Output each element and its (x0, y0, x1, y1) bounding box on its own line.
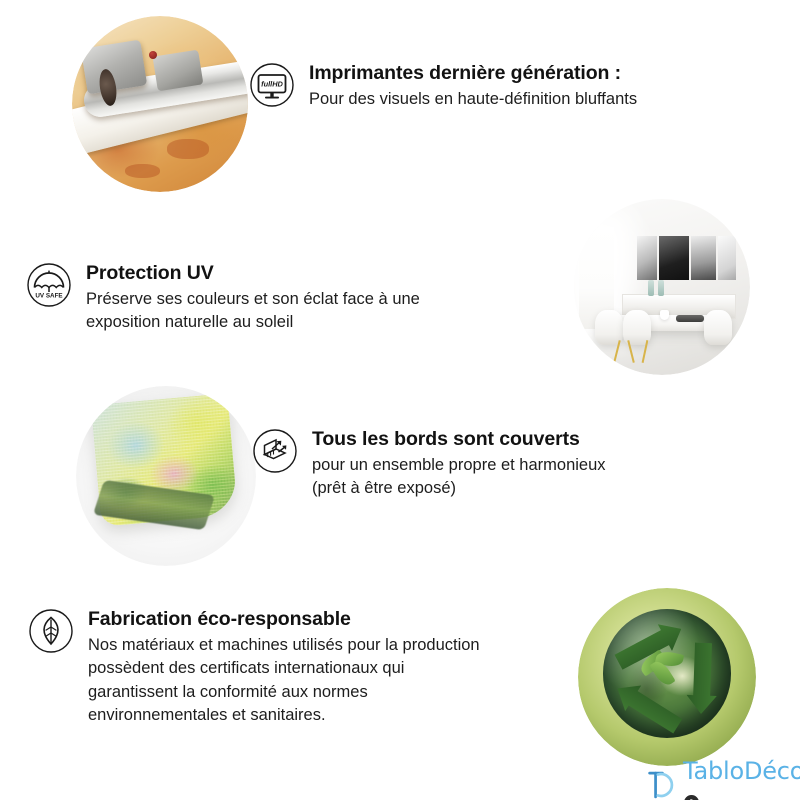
svg-text:fullHD: fullHD (261, 79, 283, 88)
feature-uv-protection: UV SAFE Protection UV Préserve ses coule… (26, 262, 526, 335)
tablodeco-monogram-icon (646, 768, 677, 800)
feature-print-quality: fullHD Imprimantes dernière génération :… (249, 62, 719, 111)
feature-description-line: garantissent la conformité aux normes (88, 681, 480, 704)
wrapped-edges-icon (252, 428, 298, 474)
colorful-canvas-corner-photo (76, 386, 256, 566)
feature-description: Préserve ses couleurs et son éclat face … (86, 288, 420, 335)
printer-head-secondary (152, 50, 203, 92)
photo-body (578, 588, 756, 766)
feature-title: Fabrication éco-responsable (88, 608, 480, 631)
chair (704, 310, 732, 345)
art-panel (691, 236, 715, 280)
svg-text:UV SAFE: UV SAFE (35, 292, 62, 299)
feature-title: Protection UV (86, 262, 420, 285)
art-panel (659, 236, 689, 280)
tld-badge: fr (684, 795, 699, 800)
art-panel (637, 236, 656, 280)
feature-description: Pour des visuels en haute-définition blu… (309, 88, 637, 111)
map-detail (167, 139, 209, 158)
photo-body (76, 386, 256, 566)
wall-art-panels (637, 236, 736, 280)
feature-text-block: Protection UV Préserve ses couleurs et s… (72, 262, 420, 335)
vase (658, 280, 664, 296)
vase (648, 280, 654, 296)
feature-text-block: Tous les bords sont couverts pour un ens… (298, 428, 606, 501)
eco-globe-recycling-photo (578, 588, 756, 766)
feature-description-line: environnementales et sanitaires. (88, 704, 480, 727)
infographic-page: fullHD Imprimantes dernière génération :… (0, 0, 800, 800)
feature-description-line: possèdent des certificats internationaux… (88, 657, 480, 680)
feature-text-block: Imprimantes dernière génération : Pour d… (295, 62, 637, 111)
photo-body (574, 199, 750, 375)
printer-roller-over-world-map-photo (72, 16, 248, 192)
feature-description: pour un ensemble propre et harmonieux (p… (312, 454, 606, 501)
leaf-icon (28, 608, 74, 654)
map-detail (125, 164, 160, 178)
fullhd-monitor-icon: fullHD (249, 62, 295, 108)
feature-title: Tous les bords sont couverts (312, 428, 606, 451)
feature-description: Nos matériaux et machines utilisés pour … (88, 634, 480, 728)
brand-name-text: TabloDéco (683, 757, 800, 785)
feature-eco-manufacturing: Fabrication éco-responsable Nos matériau… (28, 608, 588, 728)
brand-logo[interactable]: TabloDéco™fr (646, 757, 800, 800)
bright-interior-with-wall-art-photo (574, 199, 750, 375)
feature-description-line: Pour des visuels en haute-définition blu… (309, 88, 637, 111)
tray (676, 315, 704, 322)
art-panel (718, 236, 736, 280)
feature-title: Imprimantes dernière génération : (309, 62, 637, 85)
feature-description-line: (prêt à être exposé) (312, 477, 606, 500)
feature-description-line: Nos matériaux et machines utilisés pour … (88, 634, 480, 657)
photo-body (72, 16, 248, 192)
feature-description-line: exposition naturelle au soleil (86, 311, 420, 334)
uv-safe-umbrella-icon: UV SAFE (26, 262, 72, 308)
feature-description-line: Préserve ses couleurs et son éclat face … (86, 288, 420, 311)
feature-description-line: pour un ensemble propre et harmonieux (312, 454, 606, 477)
feature-covered-edges: Tous les bords sont couverts pour un ens… (252, 428, 692, 501)
feature-text-block: Fabrication éco-responsable Nos matériau… (74, 608, 480, 728)
brand-name: TabloDéco™fr (683, 757, 800, 800)
